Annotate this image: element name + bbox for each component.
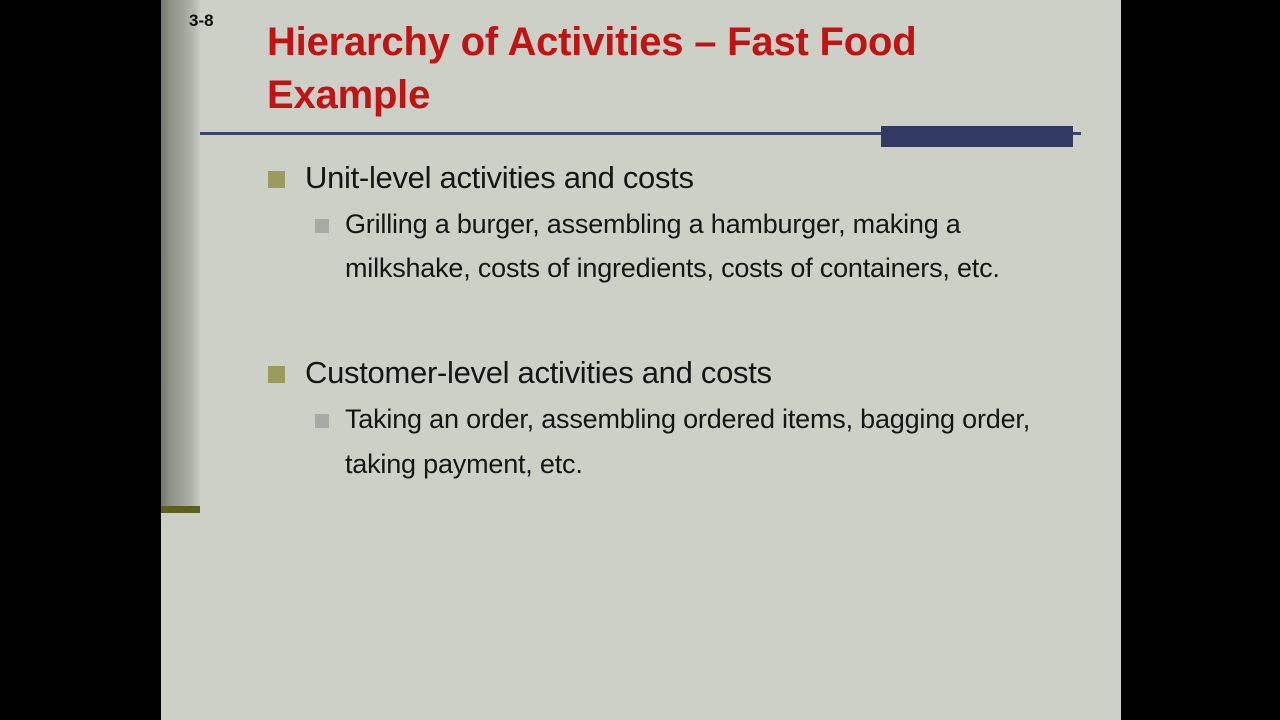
bullet-level2: Grilling a burger, assembling a hamburge…	[161, 202, 1121, 292]
slide-title: Hierarchy of Activities – Fast Food Exam…	[267, 16, 1057, 122]
bullet-text: Taking an order, assembling ordered item…	[345, 404, 1030, 479]
bullet-text: Customer-level activities and costs	[305, 355, 772, 390]
slide-viewer: 3-8 Hierarchy of Activities – Fast Food …	[0, 0, 1280, 720]
square-bullet-icon	[268, 366, 285, 383]
left-accent-bar-cap	[161, 506, 200, 513]
bullet-level1: Unit-level activities and costs	[161, 158, 1121, 198]
bullet-group-spacer	[161, 291, 1121, 353]
bullet-level1: Customer-level activities and costs	[161, 353, 1121, 393]
slide-body: Unit-level activities and costs Grilling…	[161, 158, 1121, 487]
square-bullet-icon	[315, 219, 329, 233]
slide-canvas: 3-8 Hierarchy of Activities – Fast Food …	[161, 0, 1121, 720]
slide-number: 3-8	[189, 12, 214, 29]
bullet-level2: Taking an order, assembling ordered item…	[161, 397, 1121, 487]
bullet-text: Unit-level activities and costs	[305, 160, 694, 195]
square-bullet-icon	[315, 414, 329, 428]
square-bullet-icon	[268, 171, 285, 188]
bullet-text: Grilling a burger, assembling a hamburge…	[345, 209, 1000, 284]
title-divider-block	[881, 126, 1073, 147]
